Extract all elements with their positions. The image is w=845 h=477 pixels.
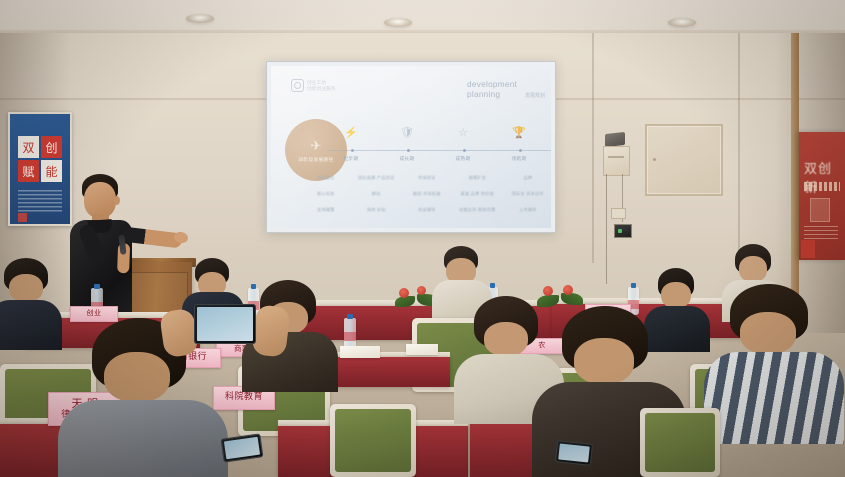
attendee-photographing bbox=[162, 296, 292, 374]
notepad bbox=[340, 346, 380, 358]
slide-table-cell: 市场验证 bbox=[402, 175, 453, 181]
slide-milestone: 🏆 领跑期 bbox=[495, 126, 543, 162]
presenter bbox=[62, 174, 174, 324]
slide-table-cell: 国际化 资本运作 bbox=[503, 191, 552, 197]
presentation-slide: 创业工坊 创新创业服务 development planning 发展规划 ✈ … bbox=[271, 66, 551, 228]
downlight-icon bbox=[186, 14, 214, 23]
table-cloth bbox=[330, 357, 450, 387]
slide-milestone: 🛡 成长期 bbox=[383, 126, 431, 162]
slide-table-cell: 规模扩张 bbox=[452, 175, 503, 181]
slide-row-header: 核心任务 bbox=[317, 191, 351, 197]
notepad bbox=[406, 344, 438, 355]
poster-body-text bbox=[18, 190, 62, 212]
slide-table-cell: 团队组建 产品验证 bbox=[351, 175, 402, 181]
downlight-icon bbox=[668, 18, 696, 27]
raised-hand-right bbox=[251, 304, 291, 358]
attendee-head bbox=[9, 274, 43, 302]
slide-milestone: ⚡ 起步期 bbox=[327, 126, 375, 162]
wall-speaker bbox=[605, 132, 625, 147]
power-outlet bbox=[614, 224, 632, 238]
phone-screen bbox=[558, 443, 590, 462]
poster-puzzle-graphic: 双 创 赋 能 bbox=[18, 136, 62, 182]
panel-latch-icon bbox=[653, 158, 656, 161]
attendee-head bbox=[484, 322, 528, 356]
smartphone-camera bbox=[194, 304, 256, 344]
av-cable bbox=[606, 174, 607, 284]
maintenance-access-panel bbox=[645, 124, 723, 196]
banner-subline bbox=[804, 182, 840, 191]
poster-puzzle-char: 赋 bbox=[18, 160, 39, 182]
attendee bbox=[718, 284, 830, 444]
poster-puzzle-char: 能 bbox=[41, 160, 62, 182]
slide-title-en-line2: planning bbox=[467, 90, 517, 100]
slide-table-cell: 金融支持 税收优惠 bbox=[452, 207, 503, 213]
slide-logo-line2: 创新创业服务 bbox=[307, 86, 336, 91]
phone-screen bbox=[197, 307, 253, 341]
flower-bloom bbox=[417, 286, 426, 295]
placard-text: 创业 bbox=[87, 310, 102, 317]
attendee-head bbox=[740, 312, 796, 354]
slide-table-cell: 孵化 bbox=[351, 191, 402, 197]
bottle-label bbox=[344, 332, 356, 342]
logo-dot-icon bbox=[294, 82, 301, 89]
wall-seam bbox=[738, 33, 740, 263]
attendee-head bbox=[104, 352, 170, 402]
slide-table: 目标定位 团队组建 产品验证 市场验证 规模扩张 品牌 核心任务 孵化 融资 市… bbox=[317, 170, 551, 218]
av-control-box bbox=[603, 146, 630, 176]
milestone-label: 领跑期 bbox=[495, 156, 543, 162]
slide-table-cell: 渠道 品牌 供应链 bbox=[452, 191, 503, 197]
attendee-head bbox=[574, 338, 634, 384]
slide-table-cell: 创业辅导 bbox=[402, 207, 453, 213]
rocket-icon: ✈ bbox=[311, 138, 322, 154]
shield-icon: 🛡 bbox=[383, 126, 431, 140]
ceiling bbox=[0, 0, 845, 34]
slide-title-en-line1: development bbox=[467, 80, 517, 90]
placard-text: 科院教育 bbox=[225, 393, 263, 402]
wall-seam bbox=[592, 33, 594, 263]
attendee-head bbox=[661, 282, 691, 308]
phone-screen bbox=[224, 437, 260, 460]
projection-screen: 创业工坊 创新创业服务 development planning 发展规划 ✈ … bbox=[266, 61, 556, 233]
leaf bbox=[561, 293, 583, 305]
slide-row-header: 目标定位 bbox=[317, 175, 351, 181]
banner-secondary bbox=[801, 240, 815, 258]
milestone-label: 成长期 bbox=[383, 156, 431, 162]
slide-table-cell: 品牌 bbox=[503, 175, 552, 181]
seminar-room-photo: 双 创 赋 能 双创新 创业工坊 创新创业 bbox=[0, 0, 845, 477]
attendee-head bbox=[739, 256, 767, 282]
lightning-icon: ⚡ bbox=[327, 126, 375, 140]
attendee bbox=[0, 258, 58, 330]
poster-seal-icon bbox=[18, 213, 27, 222]
attendee-torso bbox=[0, 300, 62, 350]
slide-milestone: ☆ 成熟期 bbox=[439, 126, 487, 162]
slide-table-cell: 融资 市场拓展 bbox=[402, 191, 453, 197]
slide-table-cell: 上市辅导 bbox=[503, 207, 552, 213]
logo-mark-icon bbox=[291, 79, 304, 92]
smartphone bbox=[555, 440, 593, 466]
attendee-torso bbox=[704, 352, 844, 444]
presenter-ear bbox=[114, 196, 120, 205]
slide-table-row: 支持政策 场地 补贴 创业辅导 金融支持 税收优惠 上市辅导 bbox=[317, 202, 551, 218]
downlight-icon bbox=[384, 18, 412, 27]
chair bbox=[640, 408, 720, 477]
chair-upholstery bbox=[645, 413, 715, 472]
chair-upholstery bbox=[335, 409, 411, 472]
trophy-icon: 🏆 bbox=[495, 126, 543, 140]
slide-title-en: development planning bbox=[467, 80, 517, 99]
poster-puzzle-char: 创 bbox=[41, 136, 62, 158]
slide-table-row: 核心任务 孵化 融资 市场拓展 渠道 品牌 供应链 国际化 资本运作 bbox=[317, 186, 551, 202]
milestone-label: 成熟期 bbox=[439, 156, 487, 162]
flower-bloom bbox=[543, 286, 553, 296]
chair bbox=[330, 404, 416, 477]
cable-plug bbox=[611, 208, 626, 219]
slide-logo: 创业工坊 创新创业服务 bbox=[291, 79, 336, 92]
slide-table-cell: 场地 补贴 bbox=[351, 207, 402, 213]
slide-row-header: 支持政策 bbox=[317, 207, 351, 213]
slide-table-row: 目标定位 团队组建 产品验证 市场验证 规模扩张 品牌 bbox=[317, 170, 551, 186]
star-icon: ☆ bbox=[439, 126, 487, 140]
slide-title-cn: 发展规划 bbox=[525, 92, 545, 99]
flower-bloom bbox=[399, 288, 409, 298]
banner-graphic-box bbox=[810, 198, 830, 222]
water-bottle bbox=[344, 318, 356, 348]
milestone-label: 起步期 bbox=[327, 156, 375, 162]
poster-puzzle-char: 双 bbox=[18, 136, 39, 158]
flower-bloom bbox=[563, 285, 573, 295]
presenter-head bbox=[84, 182, 116, 218]
attendee-torso bbox=[58, 400, 228, 477]
